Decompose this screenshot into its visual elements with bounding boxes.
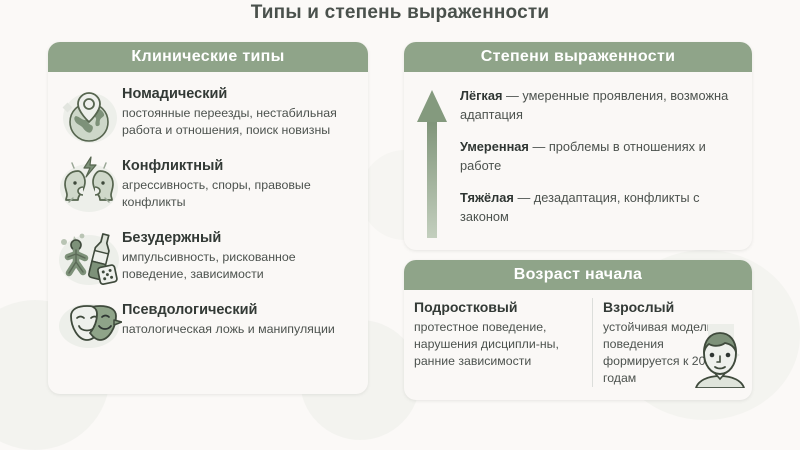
list-item-title: Конфликтный xyxy=(122,158,358,175)
list-item-text: Псевдологический патологическая ложь и м… xyxy=(122,298,335,338)
list-item-desc: патологическая ложь и манипуляции xyxy=(122,321,335,338)
age-of-onset-header: Возраст начала xyxy=(404,260,752,290)
severity-levels-card: Степени выраженности Лёгкая — умеренны xyxy=(404,42,752,250)
severity-level-list: Лёгкая — умеренные проявления, возможна … xyxy=(460,84,752,240)
list-item: Номадический постоянные переезды, нестаб… xyxy=(48,76,368,148)
age-column-adult: Взрослый устойчивая модель поведения фор… xyxy=(593,298,752,387)
list-item-text: Безудержный импульсивность, рискованное … xyxy=(122,226,358,283)
arguing-heads-icon xyxy=(56,154,122,218)
list-item-title: Безудержный xyxy=(122,230,358,247)
severity-level-name: Лёгкая xyxy=(460,88,502,103)
severity-levels-header: Степени выраженности xyxy=(404,42,752,72)
age-column-title: Подростковый xyxy=(414,298,582,317)
clinical-types-header: Клинические типы xyxy=(48,42,368,72)
severity-dash: — xyxy=(532,139,545,154)
list-item: Псевдологический патологическая ложь и м… xyxy=(48,292,368,364)
globe-pin-icon xyxy=(56,82,122,146)
severity-dash: — xyxy=(506,88,519,103)
severity-level-name: Умеренная xyxy=(460,139,529,154)
list-item-text: Конфликтный агрессивность, споры, правов… xyxy=(122,154,358,211)
list-item: Безудержный импульсивность, рискованное … xyxy=(48,220,368,292)
clinical-types-body: Номадический постоянные переезды, нестаб… xyxy=(48,72,368,364)
severity-dash: — xyxy=(517,190,530,205)
adult-man-face-icon xyxy=(684,322,752,393)
list-item-desc: постоянные переезды, нестабильная работа… xyxy=(122,105,358,139)
page-title: Типы и степень выраженности xyxy=(0,2,800,24)
list-item-desc: импульсивность, рискованное поведение, з… xyxy=(122,249,358,283)
list-item-desc: агрессивность, споры, правовые конфликты xyxy=(122,177,358,211)
age-of-onset-body: Подростковый протестное поведение, наруш… xyxy=(404,290,752,387)
clinical-types-card: Клинические типы Номадический постоянные… xyxy=(48,42,368,394)
theater-masks-icon xyxy=(56,298,122,362)
list-item-text: Номадический постоянные переезды, нестаб… xyxy=(122,82,358,139)
list-item-title: Псевдологический xyxy=(122,302,335,319)
severity-levels-body: Лёгкая — умеренные проявления, возможна … xyxy=(404,72,752,240)
running-bottle-dice-icon xyxy=(56,226,122,290)
list-item: Умеренная — проблемы в отношениях и рабо… xyxy=(460,137,742,175)
list-item-title: Номадический xyxy=(122,86,358,103)
list-item: Конфликтный агрессивность, споры, правов… xyxy=(48,148,368,220)
severity-level-name: Тяжёлая xyxy=(460,190,514,205)
age-column-teen: Подростковый протестное поведение, наруш… xyxy=(404,298,593,387)
list-item: Лёгкая — умеренные проявления, возможна … xyxy=(460,86,742,124)
age-column-desc: протестное поведение, нарушения дисципли… xyxy=(414,319,582,370)
age-column-title: Взрослый xyxy=(603,298,742,317)
up-arrow-icon xyxy=(404,84,460,240)
age-of-onset-card: Возраст начала Подростковый протестное п… xyxy=(404,260,752,400)
list-item: Тяжёлая — дезадаптация, конфликты с зако… xyxy=(460,188,742,226)
